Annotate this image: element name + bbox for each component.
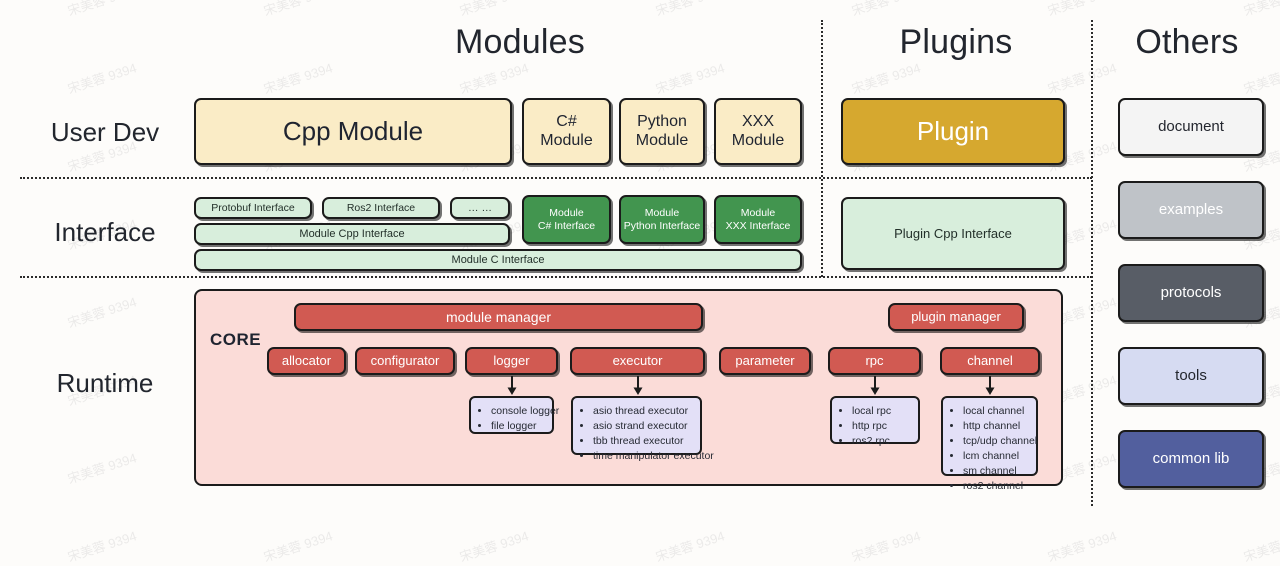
list-item: tbb thread executor — [593, 434, 692, 449]
module-manager-box[interactable]: module manager — [294, 303, 703, 331]
parameter-box[interactable]: parameter — [719, 347, 811, 375]
row-label-user-dev: User Dev — [20, 112, 190, 152]
divider-interface-runtime — [20, 276, 1092, 278]
module-csharp-interface-line2: C# Interface — [538, 220, 595, 232]
cpp-module-box[interactable]: Cpp Module — [194, 98, 512, 165]
list-item: local channel — [963, 404, 1028, 419]
logger-detail-list[interactable]: console loggerfile logger — [469, 396, 554, 434]
column-title-plugins: Plugins — [826, 25, 1086, 59]
channel-detail-items: local channelhttp channeltcp/udp channel… — [949, 404, 1028, 493]
watermark-text: 宋美蓉 9394 — [1045, 525, 1119, 565]
watermark-text: 宋美蓉 9394 — [849, 57, 923, 97]
csharp-module-line2: Module — [540, 132, 592, 151]
logger-detail-items: console loggerfile logger — [477, 404, 544, 434]
list-item: asio strand executor — [593, 419, 692, 434]
xxx-module-box[interactable]: XXX Module — [714, 98, 802, 165]
more-interface-box[interactable]: … … — [450, 197, 510, 219]
list-item: file logger — [491, 419, 544, 434]
watermark-text: 宋美蓉 9394 — [261, 525, 335, 565]
watermark-text: 宋美蓉 9394 — [1241, 0, 1280, 20]
watermark-text: 宋美蓉 9394 — [65, 291, 139, 331]
rpc-arrow-icon — [868, 376, 882, 396]
module-xxx-interface-line1: Module — [741, 207, 775, 219]
configurator-box[interactable]: configurator — [355, 347, 455, 375]
module-xxx-interface-box[interactable]: Module XXX Interface — [714, 195, 802, 244]
module-cpp-interface-box[interactable]: Module Cpp Interface — [194, 223, 510, 245]
others-protocols-box[interactable]: protocols — [1118, 264, 1264, 322]
rpc-detail-items: local rpchttp rpcros2 rpc — [838, 404, 910, 449]
watermark-text: 宋美蓉 9394 — [1241, 525, 1280, 565]
rpc-detail-list[interactable]: local rpchttp rpcros2 rpc — [830, 396, 920, 444]
watermark-text: 宋美蓉 9394 — [457, 57, 531, 97]
protobuf-interface-box[interactable]: Protobuf Interface — [194, 197, 312, 219]
executor-arrow-icon — [631, 376, 645, 396]
others-document-box[interactable]: document — [1118, 98, 1264, 156]
watermark-text: 宋美蓉 9394 — [1241, 57, 1280, 97]
python-module-box[interactable]: Python Module — [619, 98, 705, 165]
plugin-cpp-interface-box[interactable]: Plugin Cpp Interface — [841, 197, 1065, 270]
watermark-text: 宋美蓉 9394 — [849, 525, 923, 565]
list-item: sm channel — [963, 464, 1028, 479]
list-item: ros2 rpc — [852, 434, 910, 449]
ros2-interface-box[interactable]: Ros2 Interface — [322, 197, 440, 219]
module-c-interface-box[interactable]: Module C Interface — [194, 249, 802, 271]
list-item: asio thread executor — [593, 404, 692, 419]
row-label-runtime: Runtime — [20, 363, 190, 403]
others-tools-box[interactable]: tools — [1118, 347, 1264, 405]
watermark-text: 宋美蓉 9394 — [653, 0, 727, 20]
core-label: CORE — [210, 330, 261, 350]
watermark-text: 宋美蓉 9394 — [457, 525, 531, 565]
watermark-text: 宋美蓉 9394 — [65, 0, 139, 20]
python-module-line2: Module — [636, 132, 688, 151]
module-csharp-interface-line1: Module — [549, 207, 583, 219]
plugin-manager-box[interactable]: plugin manager — [888, 303, 1024, 331]
watermark-text: 宋美蓉 9394 — [261, 57, 335, 97]
list-item: http channel — [963, 419, 1028, 434]
watermark-text: 宋美蓉 9394 — [457, 0, 531, 20]
logger-box[interactable]: logger — [465, 347, 558, 375]
executor-detail-items: asio thread executorasio strand executor… — [579, 404, 692, 464]
others-common-lib-box[interactable]: common lib — [1118, 430, 1264, 488]
xxx-module-line2: Module — [732, 132, 784, 151]
xxx-module-line1: XXX — [742, 113, 774, 132]
watermark-text: 宋美蓉 9394 — [653, 57, 727, 97]
list-item: lcm channel — [963, 449, 1028, 464]
watermark-text: 宋美蓉 9394 — [1045, 57, 1119, 97]
divider-plugins-others — [1091, 20, 1093, 506]
module-python-interface-line1: Module — [645, 207, 679, 219]
watermark-text: 宋美蓉 9394 — [849, 0, 923, 20]
rpc-box[interactable]: rpc — [828, 347, 921, 375]
csharp-module-line1: C# — [556, 113, 576, 132]
logger-arrow-icon — [505, 376, 519, 396]
divider-user-dev-interface — [20, 177, 1092, 179]
list-item: tcp/udp channel — [963, 434, 1028, 449]
column-title-others: Others — [1098, 25, 1276, 59]
watermark-text: 宋美蓉 9394 — [65, 447, 139, 487]
column-title-modules: Modules — [350, 25, 690, 59]
list-item: http rpc — [852, 419, 910, 434]
python-module-line1: Python — [637, 113, 687, 132]
row-label-interface: Interface — [20, 212, 190, 252]
channel-arrow-icon — [983, 376, 997, 396]
csharp-module-box[interactable]: C# Module — [522, 98, 611, 165]
allocator-box[interactable]: allocator — [267, 347, 346, 375]
others-examples-box[interactable]: examples — [1118, 181, 1264, 239]
executor-box[interactable]: executor — [570, 347, 705, 375]
divider-modules-plugins — [821, 20, 823, 277]
list-item: local rpc — [852, 404, 910, 419]
plugin-box[interactable]: Plugin — [841, 98, 1065, 165]
module-python-interface-line2: Python Interface — [624, 220, 700, 232]
watermark-text: 宋美蓉 9394 — [653, 525, 727, 565]
module-xxx-interface-line2: XXX Interface — [726, 220, 791, 232]
watermark-text: 宋美蓉 9394 — [1045, 0, 1119, 20]
module-csharp-interface-box[interactable]: Module C# Interface — [522, 195, 611, 244]
channel-box[interactable]: channel — [940, 347, 1040, 375]
module-python-interface-box[interactable]: Module Python Interface — [619, 195, 705, 244]
list-item: console logger — [491, 404, 544, 419]
list-item: ros2 channel — [963, 479, 1028, 494]
watermark-text: 宋美蓉 9394 — [65, 57, 139, 97]
watermark-text: 宋美蓉 9394 — [261, 0, 335, 20]
executor-detail-list[interactable]: asio thread executorasio strand executor… — [571, 396, 702, 455]
watermark-text: 宋美蓉 9394 — [65, 525, 139, 565]
channel-detail-list[interactable]: local channelhttp channeltcp/udp channel… — [941, 396, 1038, 476]
list-item: time manipulator executor — [593, 449, 692, 464]
